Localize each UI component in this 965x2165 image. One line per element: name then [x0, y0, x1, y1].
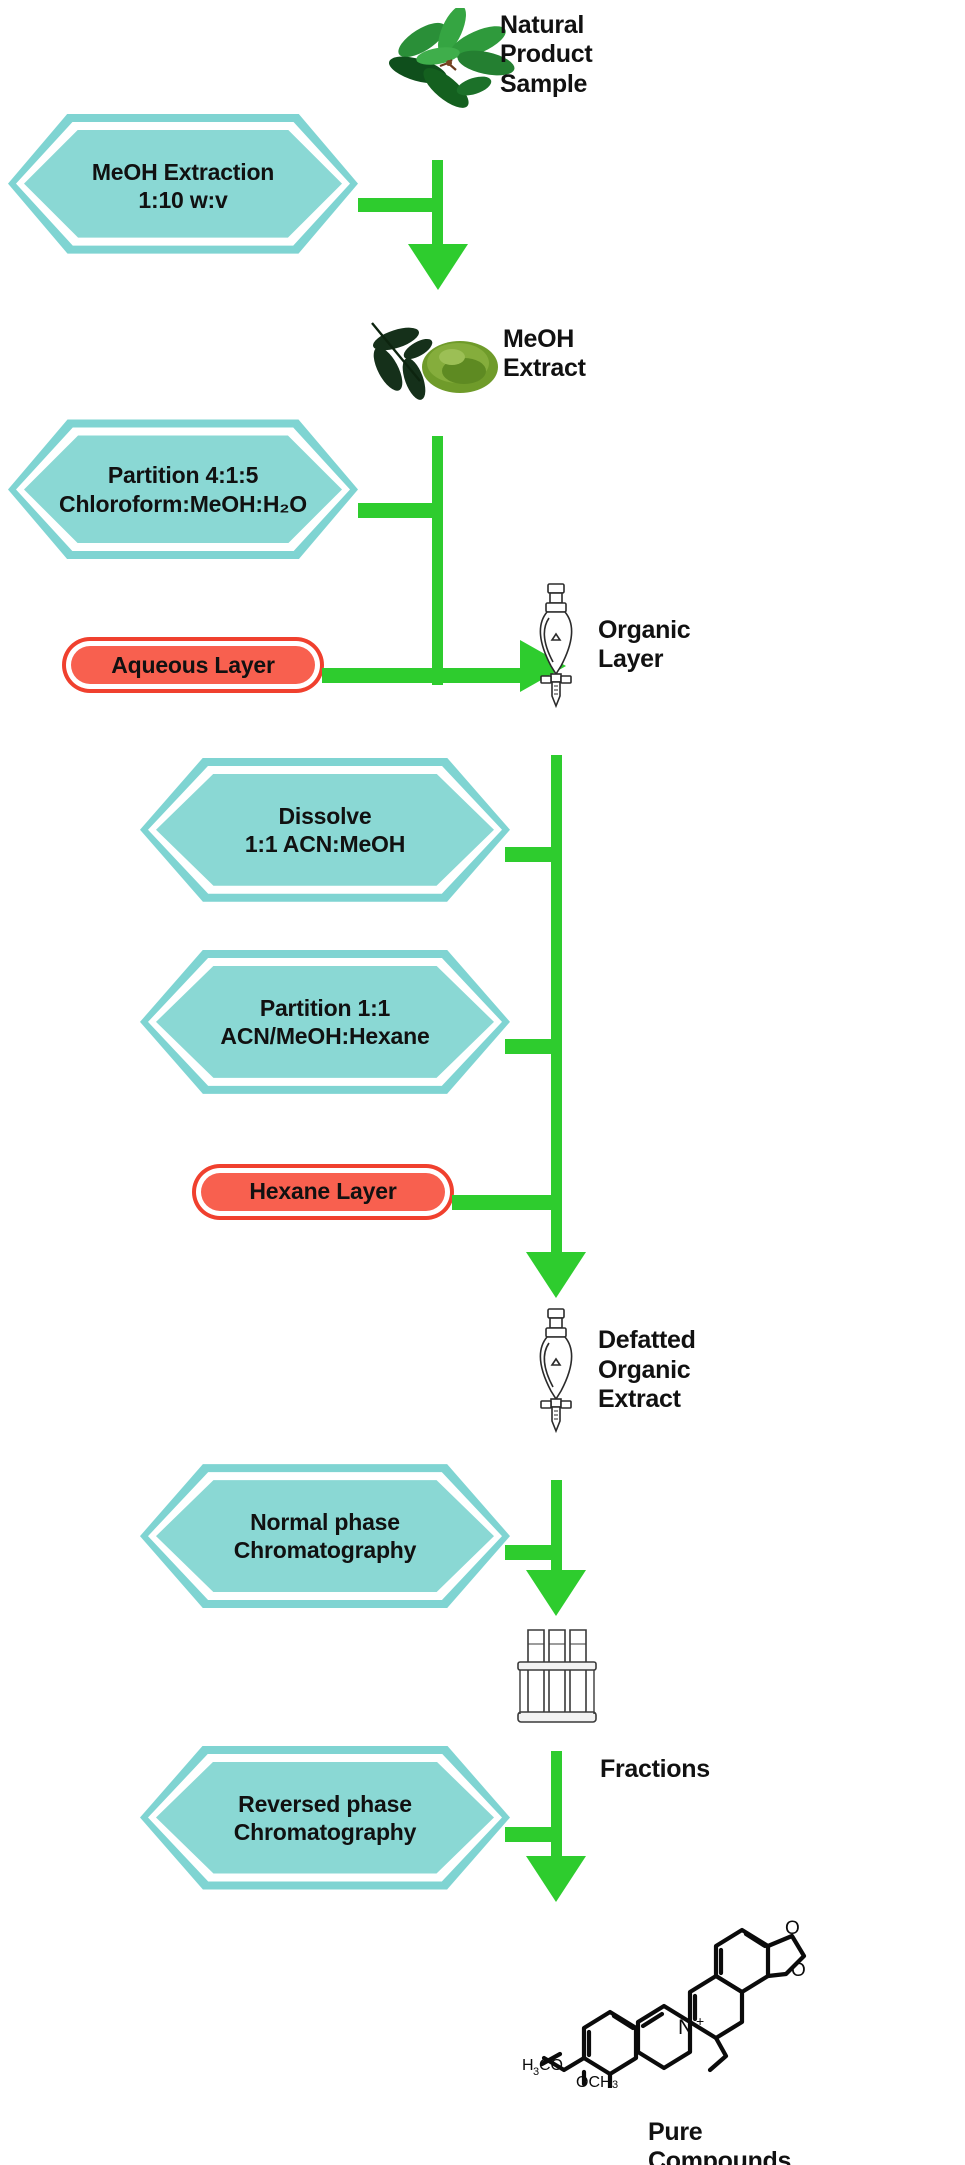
- test-tube-rack-icon: [510, 1624, 604, 1730]
- dried-leaves-powder-image: [362, 309, 502, 405]
- material-label-meoh-extract: MeOH Extract: [503, 325, 683, 384]
- material-line-2: Layer: [598, 645, 663, 673]
- material-label-fractions: Fractions: [600, 1755, 800, 1785]
- process-node-partition-11[interactable]: Partition 1:1 ACN/MeOH:Hexane: [140, 950, 510, 1094]
- material-label-pure-compounds: Pure Compounds: [648, 2118, 948, 2165]
- svg-text:H: H: [522, 2057, 534, 2074]
- material-line-2: Product: [500, 40, 592, 68]
- process-node-normal-phase[interactable]: Normal phase Chromatography: [140, 1464, 510, 1608]
- connector-dissolve-horizontal: [505, 847, 557, 862]
- material-label-organic-layer: Organic Layer: [598, 616, 768, 675]
- connector-normal-phase-horizontal: [505, 1545, 557, 1560]
- process-node-meoh-extraction[interactable]: MeOH Extraction 1:10 w:v: [8, 114, 358, 254]
- connector-meoh-extract-vertical: [432, 436, 443, 685]
- arrow-down-to-fractions: [526, 1570, 586, 1616]
- svg-text:OCH: OCH: [576, 2074, 612, 2088]
- process-node-dissolve-acn-meoh[interactable]: Dissolve 1:1 ACN:MeOH: [140, 758, 510, 902]
- process-node-reversed-phase[interactable]: Reversed phase Chromatography: [140, 1746, 510, 1890]
- connector-meoh-extraction-horizontal: [358, 198, 438, 213]
- connector-reversed-phase-horizontal: [505, 1827, 557, 1842]
- material-label-defatted-organic-extract: Defatted Organic Extract: [598, 1326, 788, 1415]
- pill-fill: Hexane Layer: [201, 1173, 445, 1211]
- material-line-1: Natural: [500, 11, 584, 39]
- hexagon-fill: [156, 1480, 494, 1592]
- svg-text:+: +: [696, 2013, 704, 2029]
- discard-node-aqueous-layer[interactable]: Aqueous Layer: [62, 637, 324, 693]
- material-line-1: MeOH: [503, 325, 574, 353]
- svg-text:O: O: [785, 1918, 800, 1939]
- hexagon-fill: [156, 774, 494, 886]
- discard-label: Aqueous Layer: [111, 652, 275, 679]
- discard-node-hexane-layer[interactable]: Hexane Layer: [192, 1164, 454, 1220]
- flowchart-canvas: Natural Product Sample MeOH Extraction 1…: [0, 0, 965, 2165]
- material-line-1: Defatted: [598, 1326, 696, 1354]
- material-line-2: Organic: [598, 1356, 690, 1384]
- plant-leaves-image: [378, 8, 518, 126]
- material-line-2: Extract: [503, 354, 586, 382]
- pill-fill: Aqueous Layer: [71, 646, 315, 684]
- hexagon-fill: [24, 435, 342, 543]
- connector-organic-layer-vertical: [551, 755, 562, 1258]
- connector-partition-415-horizontal: [358, 503, 438, 518]
- hexagon-fill: [156, 966, 494, 1078]
- arrow-down-to-meoh-extract: [408, 244, 468, 290]
- connector-defatted-vertical: [551, 1480, 562, 1577]
- hexagon-fill: [156, 1762, 494, 1874]
- berberine-structure-icon: O O N + H 3 CO: [520, 1888, 810, 2088]
- discard-label: Hexane Layer: [249, 1178, 396, 1205]
- connector-partition-11-horizontal: [505, 1039, 557, 1054]
- material-line-1: Organic: [598, 616, 690, 644]
- separatory-funnel-icon-defatted: [521, 1307, 591, 1439]
- connector-hexane-layer-horizontal: [452, 1195, 557, 1210]
- material-line-1: Fractions: [600, 1755, 710, 1783]
- svg-text:O: O: [791, 1960, 806, 1981]
- svg-text:N: N: [678, 2016, 693, 2039]
- svg-text:3: 3: [612, 2079, 618, 2088]
- material-line-3: Extract: [598, 1385, 681, 1413]
- hexagon-fill: [24, 130, 342, 238]
- process-node-partition-415[interactable]: Partition 4:1:5 Chloroform:MeOH:H₂O: [8, 419, 358, 559]
- material-line-1: Pure: [648, 2118, 702, 2146]
- material-line-3: Sample: [500, 70, 587, 98]
- connector-aqueous-layer-horizontal: [322, 668, 522, 683]
- material-line-2: Compounds: [648, 2147, 791, 2165]
- connector-fractions-vertical: [551, 1751, 562, 1867]
- separatory-funnel-icon: [521, 582, 591, 714]
- svg-text:CO: CO: [539, 2057, 563, 2074]
- arrow-down-to-defatted-extract: [526, 1252, 586, 1298]
- material-label-natural-product-sample: Natural Product Sample: [500, 11, 690, 100]
